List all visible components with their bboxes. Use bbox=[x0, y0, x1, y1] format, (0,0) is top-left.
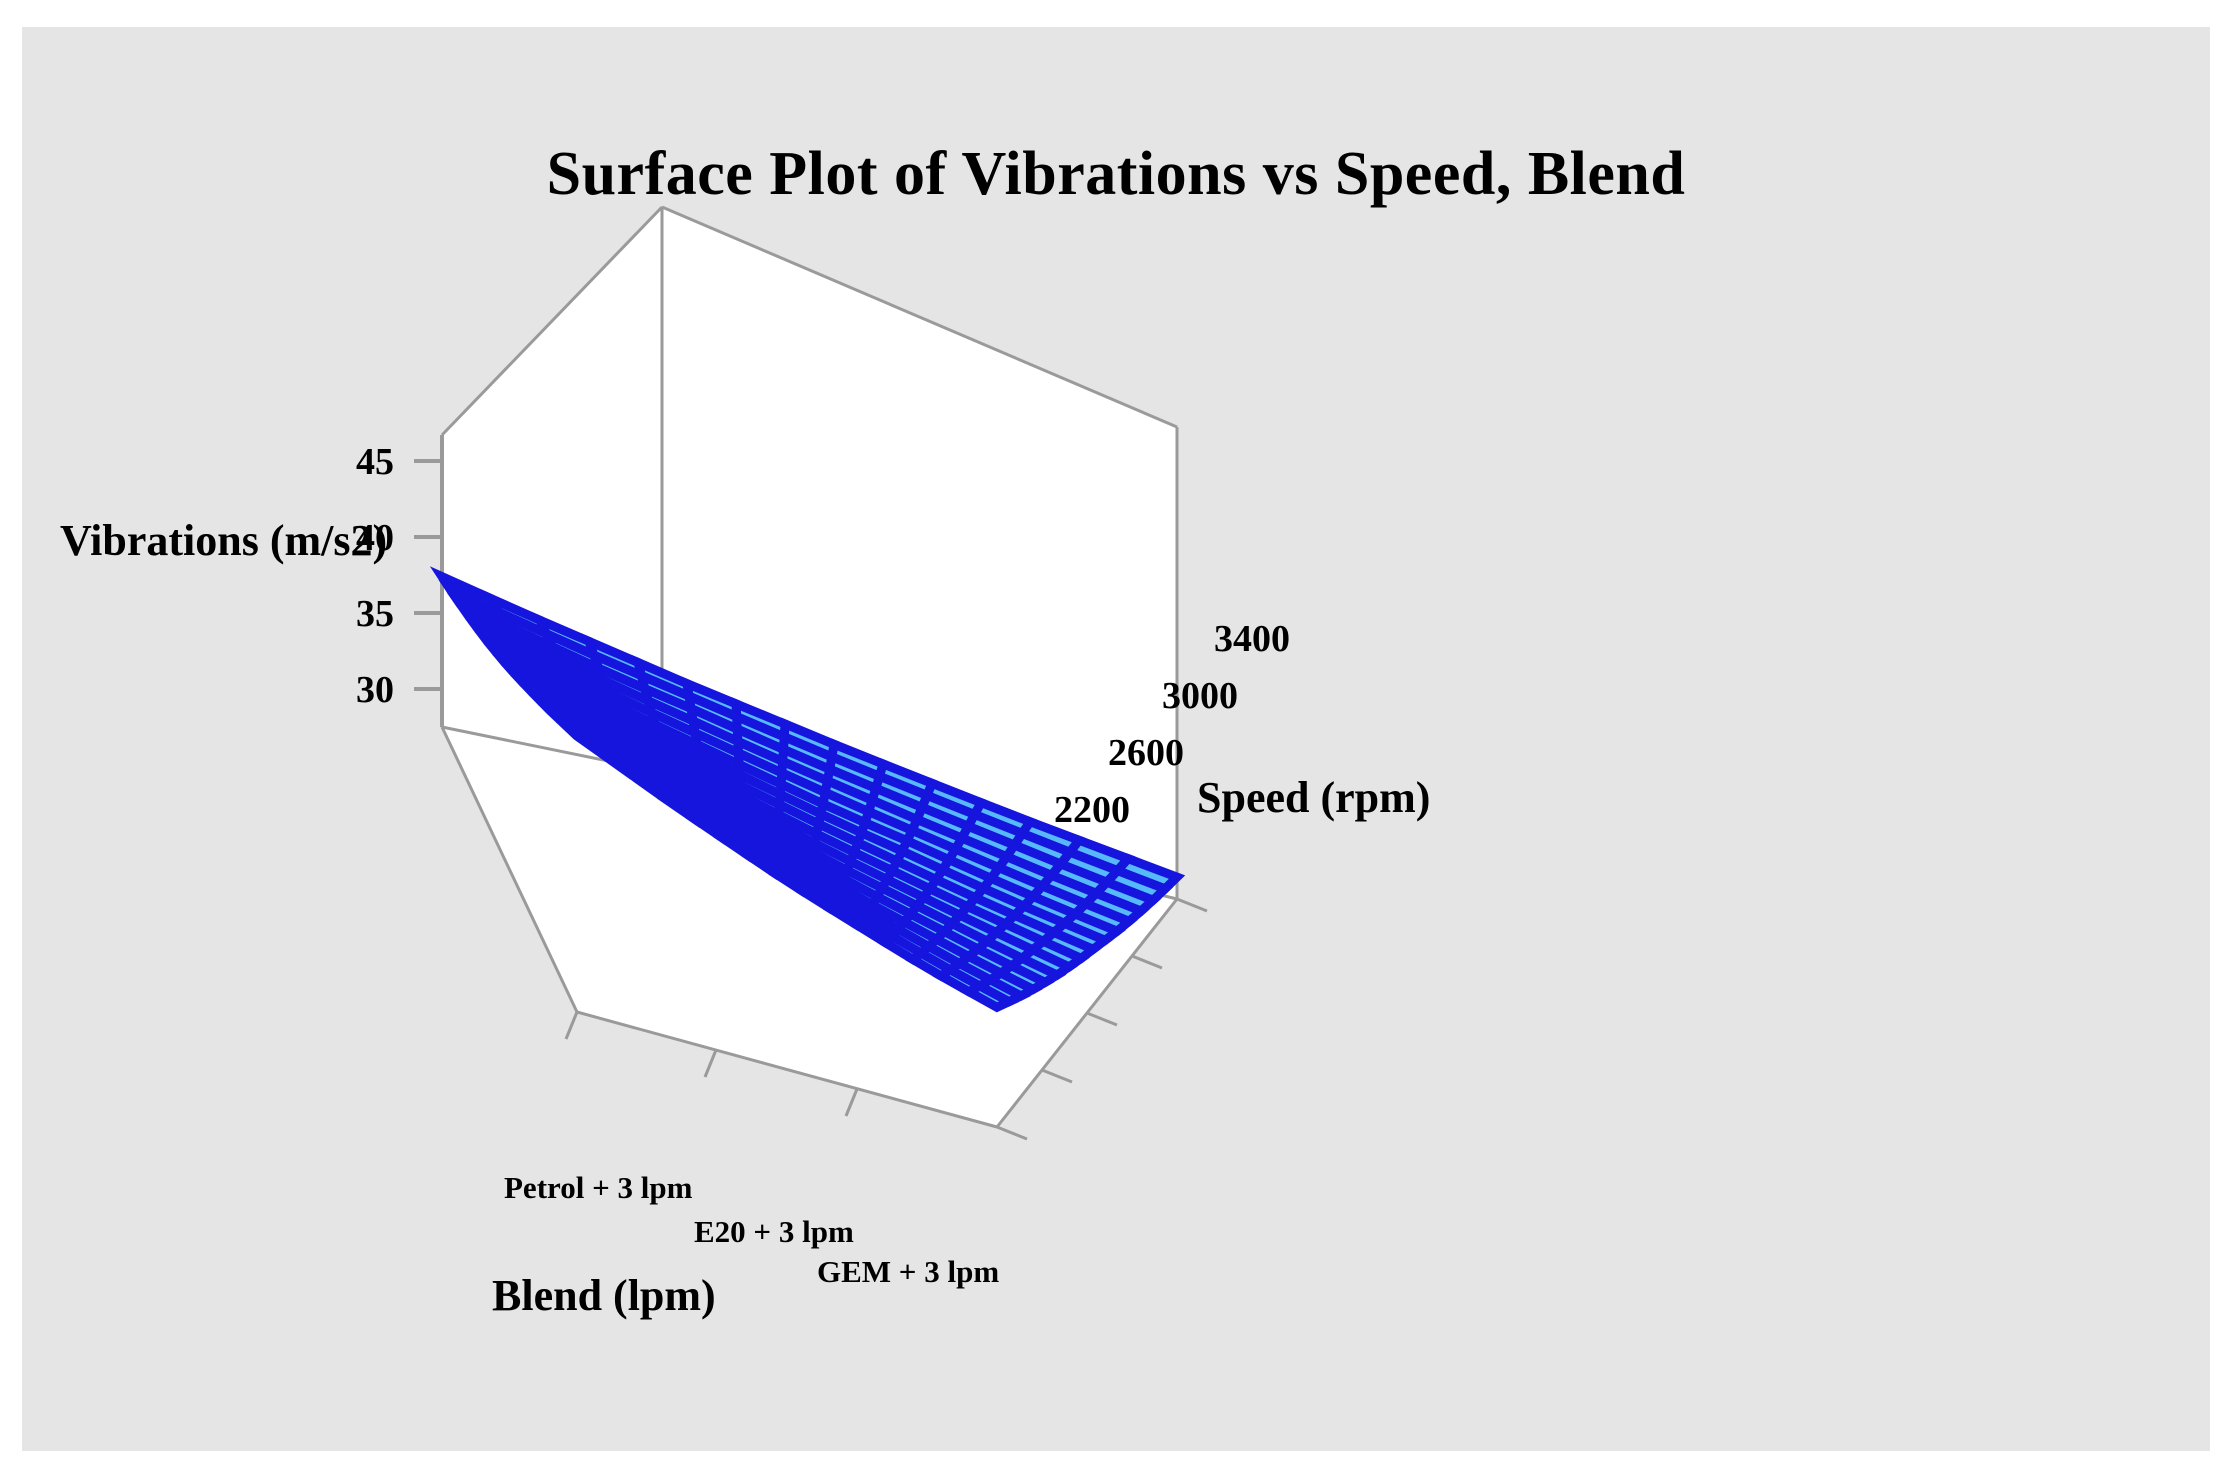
y-tick-3000 bbox=[1132, 956, 1162, 968]
y-tick-3400 bbox=[1177, 899, 1207, 911]
y-tick-label-3000: 3000 bbox=[1162, 675, 1238, 717]
x-tick-gem bbox=[846, 1089, 857, 1116]
y-tick-2200 bbox=[1042, 1070, 1072, 1082]
x-axis-title: Blend (lpm) bbox=[492, 1271, 716, 1320]
x-tick-label-petrol: Petrol + 3 lpm bbox=[504, 1170, 693, 1205]
y-tick-2600 bbox=[1087, 1013, 1117, 1025]
y-tick-1800 bbox=[997, 1127, 1027, 1139]
plot-canvas: 45 40 35 30 Vibrations (m/s2) 3400 3000 … bbox=[22, 27, 2210, 1451]
figure-panel: Surface Plot of Vibrations vs Speed, Ble… bbox=[22, 27, 2210, 1451]
z-tick-label-0: 45 bbox=[356, 441, 394, 483]
surface-plot-figure: Surface Plot of Vibrations vs Speed, Ble… bbox=[0, 0, 2233, 1473]
x-tick-petrol bbox=[566, 1012, 577, 1039]
y-tick-label-2200: 2200 bbox=[1054, 789, 1130, 831]
z-tick-label-2: 35 bbox=[356, 593, 394, 635]
z-axis: 45 40 35 30 Vibrations (m/s2) bbox=[60, 435, 442, 727]
x-tick-label-e20: E20 + 3 lpm bbox=[694, 1214, 854, 1249]
y-tick-label-2600: 2600 bbox=[1108, 732, 1184, 774]
x-tick-label-gem: GEM + 3 lpm bbox=[817, 1254, 999, 1289]
z-axis-title: Vibrations (m/s2) bbox=[60, 516, 387, 565]
z-tick-label-3: 30 bbox=[356, 669, 394, 711]
x-tick-e20 bbox=[705, 1050, 716, 1077]
y-axis-title: Speed (rpm) bbox=[1197, 773, 1430, 822]
y-tick-label-3400: 3400 bbox=[1214, 618, 1290, 660]
